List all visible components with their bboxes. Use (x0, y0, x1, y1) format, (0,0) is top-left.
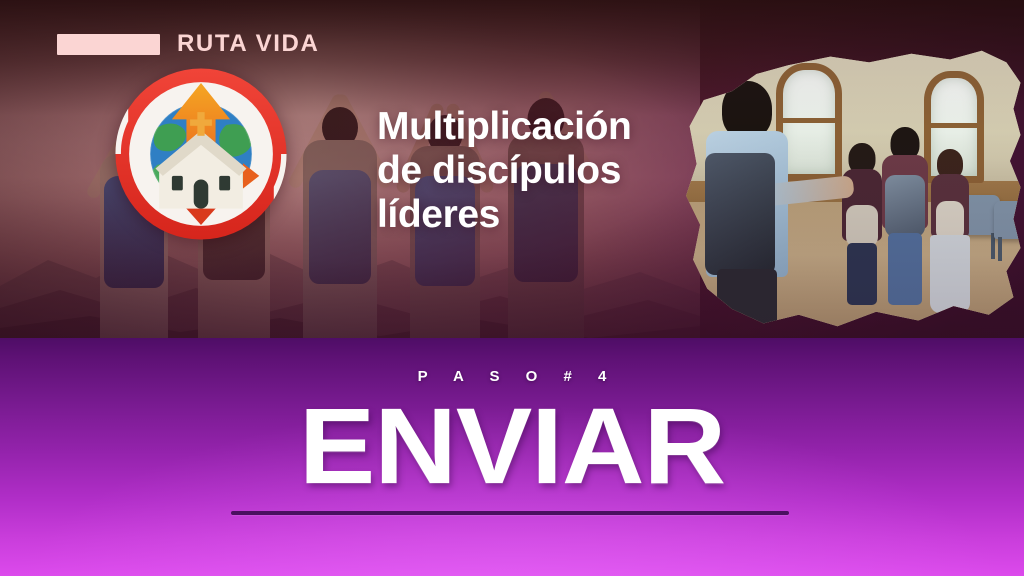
headline-line-3: líderes (377, 193, 631, 237)
eyebrow-label: RUTA VIDA (177, 30, 319, 58)
step-label: P A S O # 4 (0, 368, 1024, 385)
headline-line-2: de discípulos (377, 149, 631, 193)
slide-canvas: RUTA VIDA (0, 0, 1024, 576)
eyebrow-bar (57, 34, 160, 55)
title-underline-rule (231, 511, 789, 515)
hero-headline: Multiplicación de discípulos líderes (377, 105, 631, 237)
brand-eyebrow: RUTA VIDA (57, 30, 319, 58)
ruta-vida-logo-icon (110, 63, 292, 245)
step-title: ENVIAR (0, 392, 1024, 500)
headline-line-1: Multiplicación (377, 105, 631, 149)
